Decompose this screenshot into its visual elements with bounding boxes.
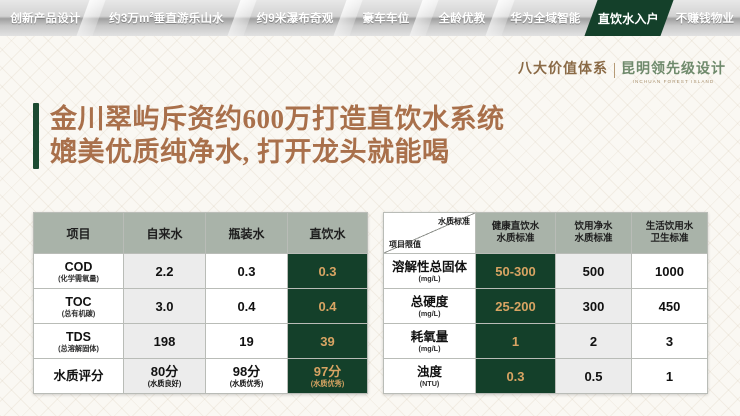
headline-line-1: 金川翠屿斥资约600万打造直饮水系统 <box>50 103 505 136</box>
row-label: 浊度 <box>417 365 442 379</box>
row-label: 总硬度 <box>411 295 449 309</box>
value-cell: 3 <box>632 324 708 359</box>
row-label: TOC <box>65 295 91 309</box>
value-cell: 0.4 <box>206 289 288 324</box>
row-label-cell: 溶解性总固体(mg/L) <box>384 254 476 289</box>
nav-tab-4[interactable]: 豪车车位 <box>348 0 424 36</box>
table-right-body: 溶解性总固体(mg/L)50-3005001000总硬度(mg/L)25-200… <box>384 254 708 394</box>
row-label-cell: 耗氧量(mg/L) <box>384 324 476 359</box>
row-label: TDS <box>66 330 91 344</box>
cell-value: 80分 <box>151 364 178 379</box>
value-cell: 500 <box>556 254 632 289</box>
cell-value: 450 <box>659 299 681 314</box>
table-row: 总硬度(mg/L)25-200300450 <box>384 289 708 324</box>
nav-tab-2[interactable]: 约3万m2垂直游乐山水 <box>91 0 242 36</box>
nav-tab-8[interactable]: 不赚钱物业 <box>667 0 740 36</box>
cell-value: 3 <box>666 334 673 349</box>
brand-divider <box>614 63 615 78</box>
nav-tab-7[interactable]: 直饮水入户 <box>584 0 673 36</box>
table-row: 溶解性总固体(mg/L)50-3005001000 <box>384 254 708 289</box>
value-cell: 0.3 <box>206 254 288 289</box>
row-label-unit: (mg/L) <box>384 309 475 318</box>
cell-value: 0.5 <box>584 369 602 384</box>
table-row: 水质评分80分(水质良好)98分(水质优秀)97分(水质优秀) <box>34 359 368 394</box>
brand-subtitle-cn: 昆明领先级设计 <box>621 62 726 78</box>
corner-label-limit: 项目限值 <box>389 239 421 250</box>
nav-tab-5[interactable]: 全龄优教 <box>424 0 500 36</box>
nav-tab-3[interactable]: 约9米瀑布奇观 <box>242 0 348 36</box>
value-cell: 2.2 <box>124 254 206 289</box>
water-standard-limits-table: 水质标准 项目限值 健康直饮水 水质标准 饮用净水 水质标准 生活饮用水 卫生标… <box>383 212 708 394</box>
value-cell: 450 <box>632 289 708 324</box>
table-left-header-row: 项目 自来水 瓶装水 直饮水 <box>34 213 368 254</box>
superscript-two: 2 <box>150 12 154 19</box>
header-line-2: 卫生标准 <box>632 233 707 245</box>
row-label-unit: (mg/L) <box>384 344 475 353</box>
nav-tab-label: 约9米瀑布奇观 <box>257 10 334 26</box>
cell-value-sub: (水质优秀) <box>206 379 287 388</box>
row-label: COD <box>65 260 93 274</box>
nav-tab-label: 直饮水入户 <box>598 10 659 27</box>
cell-value: 98分 <box>233 364 260 379</box>
nav-tab-label: 不赚钱物业 <box>676 10 735 26</box>
brand-subtitle-en: INCHUAN FOREST ISLAND <box>621 79 726 84</box>
highlighted-value-cell: 97分(水质优秀) <box>288 359 368 394</box>
highlighted-value-cell: 0.4 <box>288 289 368 324</box>
header-line-2: 水质标准 <box>476 233 555 245</box>
cell-value: 0.3 <box>318 264 336 279</box>
cell-value: 3.0 <box>155 299 173 314</box>
nav-tab-label: 约3万m2垂直游乐山水 <box>109 10 224 26</box>
water-quality-comparison-table: 项目 自来水 瓶装水 直饮水 COD(化学需氧量)2.20.30.3TOC(总有… <box>33 212 368 394</box>
value-cell: 1 <box>632 359 708 394</box>
table-right-corner-cell: 水质标准 项目限值 <box>384 213 476 254</box>
row-label-cell: 总硬度(mg/L) <box>384 289 476 324</box>
highlighted-value-cell: 50-300 <box>476 254 556 289</box>
row-label: 溶解性总固体 <box>392 260 467 274</box>
nav-tab-6[interactable]: 华为全域智能 <box>500 0 591 36</box>
cell-value: 25-200 <box>495 299 535 314</box>
cell-value: 97分 <box>314 364 341 379</box>
table-row: TOC(总有机碳)3.00.40.4 <box>34 289 368 324</box>
value-cell: 198 <box>124 324 206 359</box>
highlighted-value-cell: 39 <box>288 324 368 359</box>
header-line-1: 饮用净水 <box>556 221 631 233</box>
row-label: 水质评分 <box>53 369 103 383</box>
table-row: TDS(总溶解固体)1981939 <box>34 324 368 359</box>
nav-tab-label: 豪车车位 <box>363 10 410 26</box>
top-navigation-bar: 创新产品设计约3万m2垂直游乐山水约9米瀑布奇观豪车车位全龄优教华为全域智能直饮… <box>0 0 740 36</box>
value-cell: 2 <box>556 324 632 359</box>
highlighted-value-cell: 0.3 <box>288 254 368 289</box>
corner-label-standard: 水质标准 <box>438 216 470 227</box>
cell-value-sub: (水质良好) <box>124 379 205 388</box>
cell-value: 0.4 <box>237 299 255 314</box>
slide-canvas: 创新产品设计约3万m2垂直游乐山水约9米瀑布奇观豪车车位全龄优教华为全域智能直饮… <box>0 0 740 416</box>
headline-block: 金川翠屿斥资约600万打造直饮水系统 媲美优质纯净水, 打开龙头就能喝 <box>33 103 505 169</box>
value-cell: 98分(水质优秀) <box>206 359 288 394</box>
table-left-header-cell: 项目 <box>34 213 124 254</box>
table-right-header-cell: 健康直饮水 水质标准 <box>476 213 556 254</box>
value-cell: 19 <box>206 324 288 359</box>
brand-title-cn: 八大价值体系 <box>518 62 608 78</box>
value-cell: 300 <box>556 289 632 324</box>
cell-value: 2 <box>590 334 597 349</box>
header-line-1: 健康直饮水 <box>476 221 555 233</box>
cell-value: 39 <box>320 334 334 349</box>
row-label-cell: 浊度(NTU) <box>384 359 476 394</box>
table-left-header-cell: 自来水 <box>124 213 206 254</box>
table-row: COD(化学需氧量)2.20.30.3 <box>34 254 368 289</box>
nav-tab-label: 全龄优教 <box>439 10 486 26</box>
highlighted-value-cell: 0.3 <box>476 359 556 394</box>
table-left-header-cell: 瓶装水 <box>206 213 288 254</box>
highlighted-value-cell: 1 <box>476 324 556 359</box>
headline-text: 金川翠屿斥资约600万打造直饮水系统 媲美优质纯净水, 打开龙头就能喝 <box>50 103 505 169</box>
table-right-header-cell: 生活饮用水 卫生标准 <box>632 213 708 254</box>
cell-value: 300 <box>583 299 605 314</box>
brand-lockup: 八大价值体系 昆明领先级设计 INCHUAN FOREST ISLAND <box>518 62 726 84</box>
cell-value: 0.3 <box>237 264 255 279</box>
brand-subtitle-group: 昆明领先级设计 INCHUAN FOREST ISLAND <box>621 62 726 84</box>
highlighted-value-cell: 25-200 <box>476 289 556 324</box>
table-right-header-cell: 饮用净水 水质标准 <box>556 213 632 254</box>
row-label: 耗氧量 <box>411 330 449 344</box>
value-cell: 1000 <box>632 254 708 289</box>
row-label-unit: (NTU) <box>384 379 475 388</box>
table-right-header-row: 水质标准 项目限值 健康直饮水 水质标准 饮用净水 水质标准 生活饮用水 卫生标… <box>384 213 708 254</box>
cell-value: 0.3 <box>506 369 524 384</box>
row-label-cell: 水质评分 <box>34 359 124 394</box>
header-line-1: 生活饮用水 <box>632 221 707 233</box>
row-label-cell: TOC(总有机碳) <box>34 289 124 324</box>
headline-accent-bar <box>33 103 39 169</box>
row-label-sub: (总有机碳) <box>34 309 123 318</box>
value-cell: 80分(水质良好) <box>124 359 206 394</box>
row-label-sub: (总溶解固体) <box>34 344 123 353</box>
headline-line-2: 媲美优质纯净水, 打开龙头就能喝 <box>50 136 505 169</box>
value-cell: 3.0 <box>124 289 206 324</box>
nav-tab-label: 华为全域智能 <box>510 10 580 26</box>
nav-tab-1[interactable]: 创新产品设计 <box>0 0 91 36</box>
nav-tab-label: 创新产品设计 <box>10 10 80 26</box>
cell-value: 2.2 <box>155 264 173 279</box>
table-left-header-cell: 直饮水 <box>288 213 368 254</box>
cell-value: 19 <box>239 334 253 349</box>
row-label-cell: COD(化学需氧量) <box>34 254 124 289</box>
cell-value: 1000 <box>655 264 684 279</box>
cell-value: 1 <box>666 369 673 384</box>
cell-value-sub: (水质优秀) <box>288 379 367 388</box>
cell-value: 50-300 <box>495 264 535 279</box>
table-left-body: COD(化学需氧量)2.20.30.3TOC(总有机碳)3.00.40.4TDS… <box>34 254 368 394</box>
row-label-sub: (化学需氧量) <box>34 274 123 283</box>
table-row: 耗氧量(mg/L)123 <box>384 324 708 359</box>
value-cell: 0.5 <box>556 359 632 394</box>
cell-value: 198 <box>154 334 176 349</box>
row-label-unit: (mg/L) <box>384 274 475 283</box>
cell-value: 0.4 <box>318 299 336 314</box>
table-row: 浊度(NTU)0.30.51 <box>384 359 708 394</box>
row-label-cell: TDS(总溶解固体) <box>34 324 124 359</box>
header-line-2: 水质标准 <box>556 233 631 245</box>
cell-value: 500 <box>583 264 605 279</box>
cell-value: 1 <box>512 334 519 349</box>
